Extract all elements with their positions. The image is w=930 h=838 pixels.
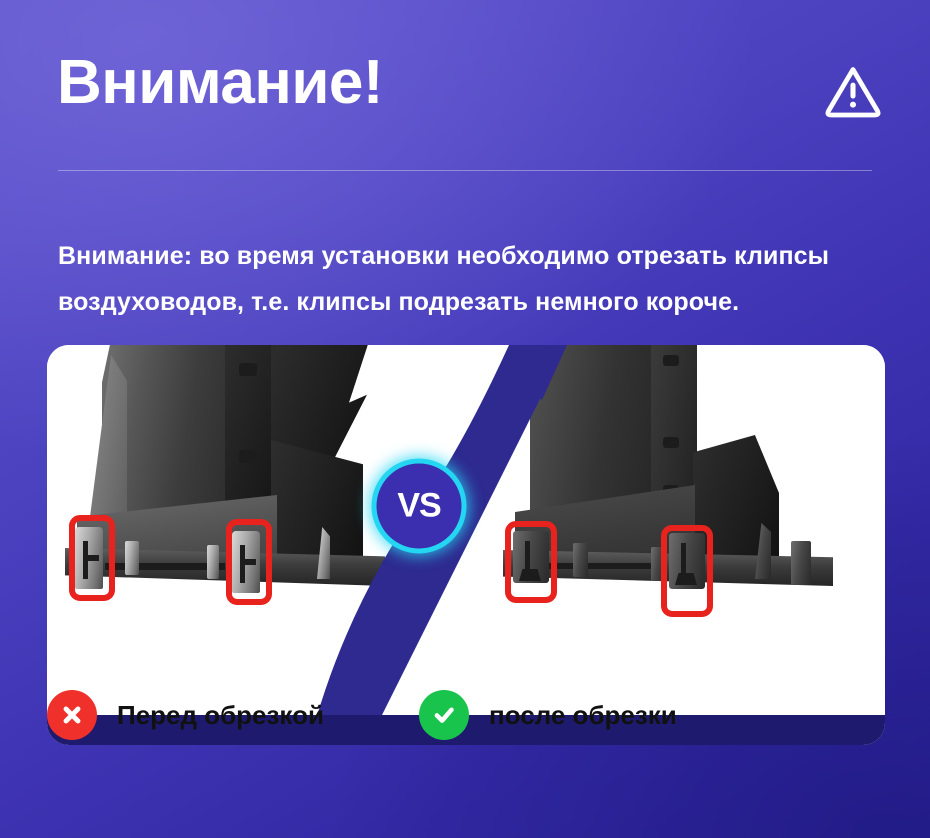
caption-strip: Перед обрезкой после обрезки xyxy=(47,685,885,745)
header: Внимание! xyxy=(57,52,885,152)
warning-poster: Внимание! Внимание: во время установки н… xyxy=(0,0,930,838)
caption-after: после обрезки xyxy=(419,685,677,745)
photo-after-cutting xyxy=(455,345,885,690)
caption-label-after: после обрезки xyxy=(489,700,677,731)
vs-badge: VS xyxy=(372,459,467,554)
caption-before: Перед обрезкой xyxy=(47,685,324,745)
cross-icon xyxy=(47,690,97,740)
highlight-box-left-clip xyxy=(69,515,115,601)
page-title: Внимание! xyxy=(57,52,885,114)
check-icon xyxy=(419,690,469,740)
warning-triangle-icon xyxy=(823,62,883,122)
header-divider-rule xyxy=(58,170,872,171)
highlight-box-right-clip xyxy=(661,525,713,617)
highlight-box-right-clip xyxy=(226,519,272,605)
caption-label-before: Перед обрезкой xyxy=(117,700,324,731)
comparison-card: Перед обрезкой после обрезки xyxy=(47,345,885,745)
highlight-box-left-clip xyxy=(505,521,557,603)
instruction-paragraph: Внимание: во время установки необходимо … xyxy=(58,233,875,326)
